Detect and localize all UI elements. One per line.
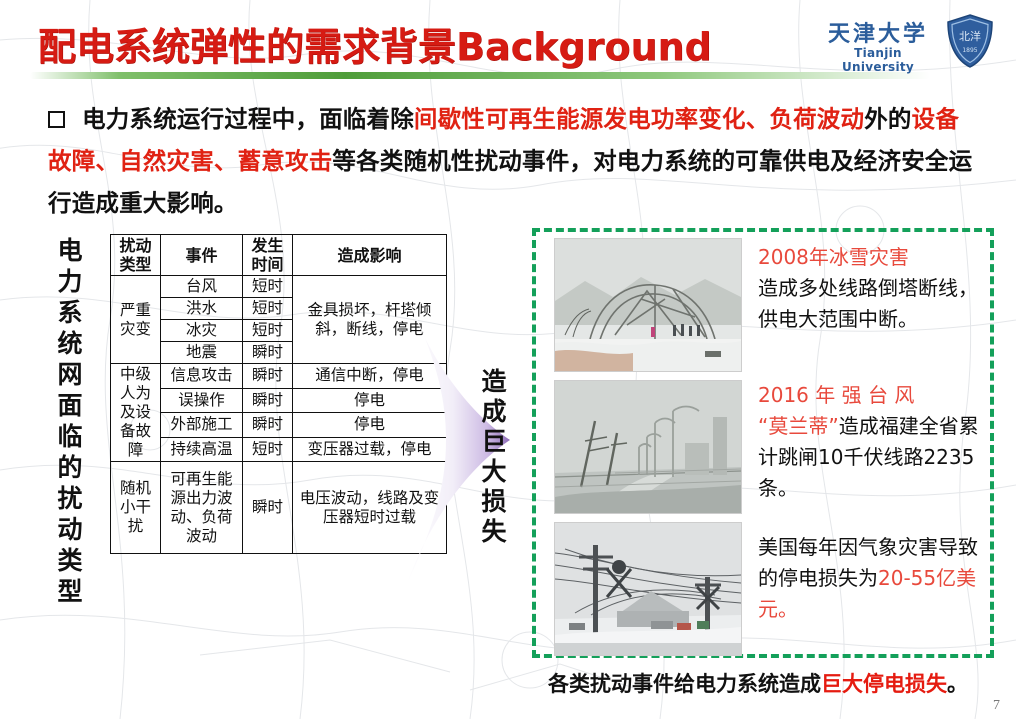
cell-time: 短时 [243,276,293,298]
table-row: 中级人为及设备故障 信息攻击 瞬时 通信中断，停电 [111,364,447,389]
table-header-type: 扰动类型 [111,235,161,276]
title-underline-rule [30,72,930,79]
cell-time: 瞬时 [243,462,293,554]
bottom-caption-prefix: 各类扰动事件给电力系统造成 [548,672,821,696]
logo-english-name: Tianjin University [818,46,938,74]
cell-type-severe: 严重灾变 [111,276,161,364]
cell-time: 瞬时 [243,364,293,389]
bullet-paragraph: 电力系统运行过程中，面临着除间歇性可再生能源发电功率变化、负荷波动外的设备故障、… [48,98,978,224]
case-text: 2016 年 强 台 风 “莫兰蒂”造成福建全省累计跳闸10千伏线路2235条。 [758,380,996,504]
disturbance-type-table: 扰动类型 事件 发生时间 造成影响 严重灾变 台风 短时 金具损坏，杆塔倾斜，断… [110,234,447,554]
bottom-caption-highlight: 巨大停电损失 [821,672,947,696]
cell-time: 短时 [243,437,293,462]
case-item: 2008年冰雪灾害 造成多处线路倒塔断线，供电大范围中断。 [546,238,990,374]
table-row: 误操作 瞬时 停电 [111,388,447,413]
case-item: 美国每年因气象灾害导致的停电损失为20-55亿美元。 [546,522,990,656]
case-highlight: 2016 年 强 台 风 [758,383,914,407]
case-body: 造成多处线路倒塔断线，供电大范围中断。 [758,276,978,331]
table-row: 严重灾变 台风 短时 金具损坏，杆塔倾斜，断线，停电 [111,276,447,298]
svg-text:北洋: 北洋 [959,29,981,43]
hollow-square-bullet-icon [48,111,65,128]
case-highlight-2: “莫兰蒂” [758,414,839,438]
bullet-seg-0: 电力系统运行过程中，面临着除 [82,105,414,133]
table-row: 持续高温 短时 变压器过载，停电 [111,437,447,462]
collapsed-transmission-tower-in-snow-photo [554,238,742,372]
bottom-caption: 各类扰动事件给电力系统造成巨大停电损失。 [548,668,998,698]
svg-text:1895: 1895 [962,47,977,54]
page-number: 7 [993,698,1000,714]
cell-time: 短时 [243,298,293,320]
cell-type-human-equipment: 中级人为及设备故障 [111,364,161,462]
bullet-seg-2: 外的 [864,105,911,133]
cell-time: 瞬时 [243,388,293,413]
cell-event: 误操作 [161,388,243,413]
cell-event: 台风 [161,276,243,298]
cell-event: 持续高温 [161,437,243,462]
cell-time: 瞬时 [243,342,293,364]
case-text: 美国每年因气象灾害导致的停电损失为20-55亿美元。 [758,532,996,625]
page-title: 配电系统弹性的需求背景Background [38,16,712,71]
table-header-row: 扰动类型 事件 发生时间 造成影响 [111,235,447,276]
table-header-event: 事件 [161,235,243,276]
university-logo: 天津大学 Tianjin University 北洋 1895 [818,14,998,70]
case-item: 2016 年 强 台 风 “莫兰蒂”造成福建全省累计跳闸10千伏线路2235条。 [546,380,990,516]
cell-time: 瞬时 [243,413,293,438]
slide-header: 配电系统弹性的需求背景Background 天津大学 Tianjin Unive… [0,0,1016,86]
logo-chinese-name: 天津大学 [818,16,938,48]
disaster-cases-panel: 2008年冰雪灾害 造成多处线路倒塔断线，供电大范围中断。 [532,228,994,658]
arrow-vertical-caption: 造成巨大损失 [476,368,510,598]
cell-event: 信息攻击 [161,364,243,389]
leaning-utility-poles-after-typhoon-photo [554,380,742,514]
cell-event: 洪水 [161,298,243,320]
cell-event: 可再生能源出力波动、负荷波动 [161,462,243,554]
table-row: 随机小干扰 可再生能源出力波动、负荷波动 瞬时 电压波动，线路及变压器短时过载 [111,462,447,554]
bullet-paragraph-text: 电力系统运行过程中，面临着除间歇性可再生能源发电功率变化、负荷波动外的设备故障、… [48,105,972,217]
downed-power-lines-in-snow-photo [554,522,742,656]
cell-event: 地震 [161,342,243,364]
cell-type-random: 随机小干扰 [111,462,161,554]
table-row: 外部施工 瞬时 停电 [111,413,447,438]
table-header-time: 发生时间 [243,235,293,276]
bullet-seg-1: 间歇性可再生能源发电功率变化、负荷波动 [414,105,864,133]
table-header-impact: 造成影响 [293,235,447,276]
case-highlight: 2008年冰雪灾害 [758,245,909,269]
cell-event: 外部施工 [161,413,243,438]
bottom-caption-suffix: 。 [947,672,968,696]
left-vertical-caption: 电力系统网面临的扰动类型 [49,232,87,614]
shield-emblem-icon: 北洋 1895 [946,14,994,68]
cell-time: 短时 [243,320,293,342]
cell-event: 冰灾 [161,320,243,342]
case-text: 2008年冰雪灾害 造成多处线路倒塔断线，供电大范围中断。 [758,242,996,335]
